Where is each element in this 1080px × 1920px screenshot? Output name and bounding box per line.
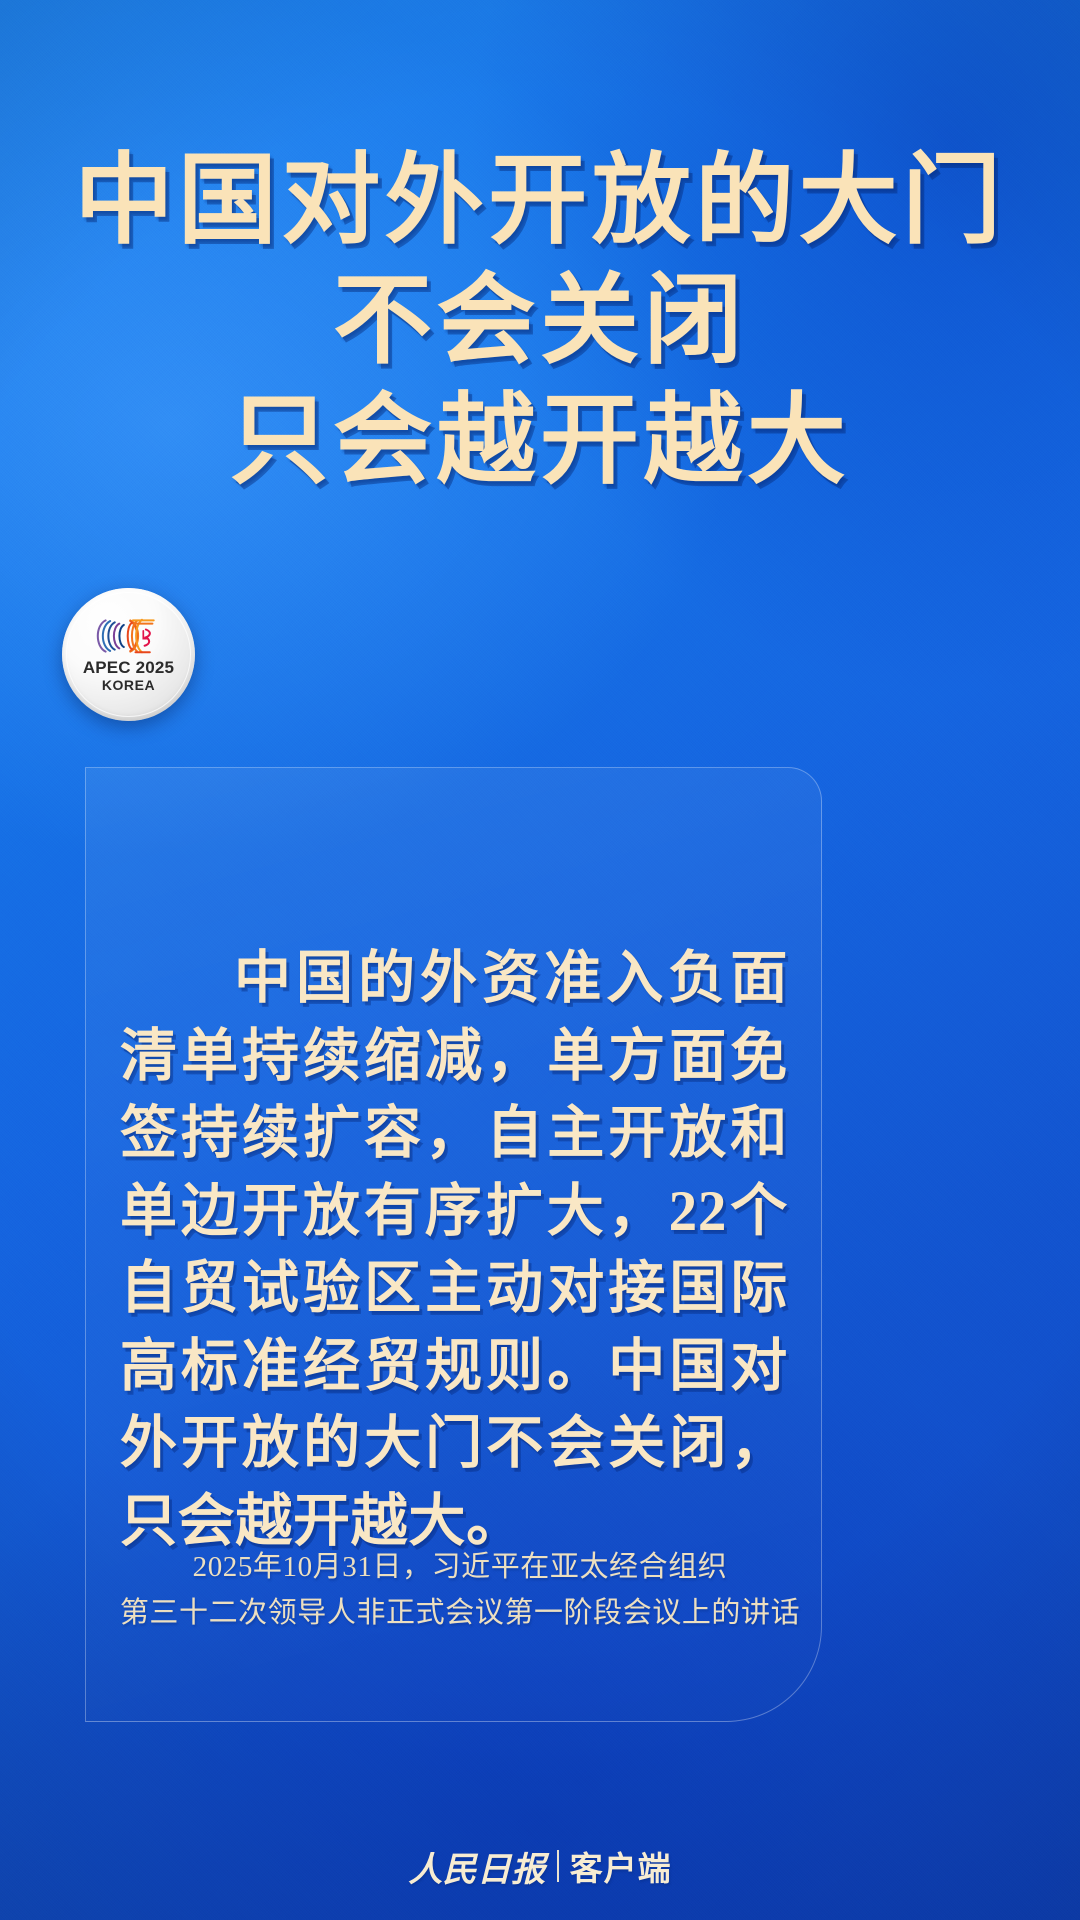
footer-branding: 人民日报 客户端 bbox=[0, 1836, 1080, 1896]
quote-paragraph: 中国的外资准入负面清单持续缩减，单方面免签持续扩容，自主开放和单边开放有序扩大，… bbox=[120, 940, 788, 1560]
footer-divider bbox=[557, 1850, 559, 1882]
headline-line-3: 只会越开越大 bbox=[0, 392, 1080, 491]
badge-title: APEC 2025 bbox=[83, 659, 174, 677]
quote-attribution: 2025年10月31日，习近平在亚太经合组织 第三十二次领导人非正式会议第一阶段… bbox=[110, 1545, 810, 1637]
badge-subtitle: KOREA bbox=[102, 678, 155, 693]
poster-canvas: 中国对外开放的大门 不会关闭 只会越开越大 中国的外资准入负面清单持续缩减，单方… bbox=[0, 0, 1080, 1920]
page-title: 中国对外开放的大门 不会关闭 只会越开越大 bbox=[0, 152, 1080, 491]
footer-app-label: 客户端 bbox=[570, 1842, 672, 1890]
headline-line-1: 中国对外开放的大门 bbox=[0, 152, 1080, 251]
apec-wave-face-logo-icon bbox=[90, 615, 168, 657]
attribution-line-2: 第三十二次领导人非正式会议第一阶段会议上的讲话 bbox=[110, 1591, 810, 1637]
apec-badge: APEC 2025 KOREA bbox=[62, 588, 195, 721]
attribution-line-1: 2025年10月31日，习近平在亚太经合组织 bbox=[110, 1545, 810, 1591]
headline-line-2: 不会关闭 bbox=[0, 272, 1080, 371]
peoples-daily-logo: 人民日报 bbox=[408, 1842, 545, 1891]
